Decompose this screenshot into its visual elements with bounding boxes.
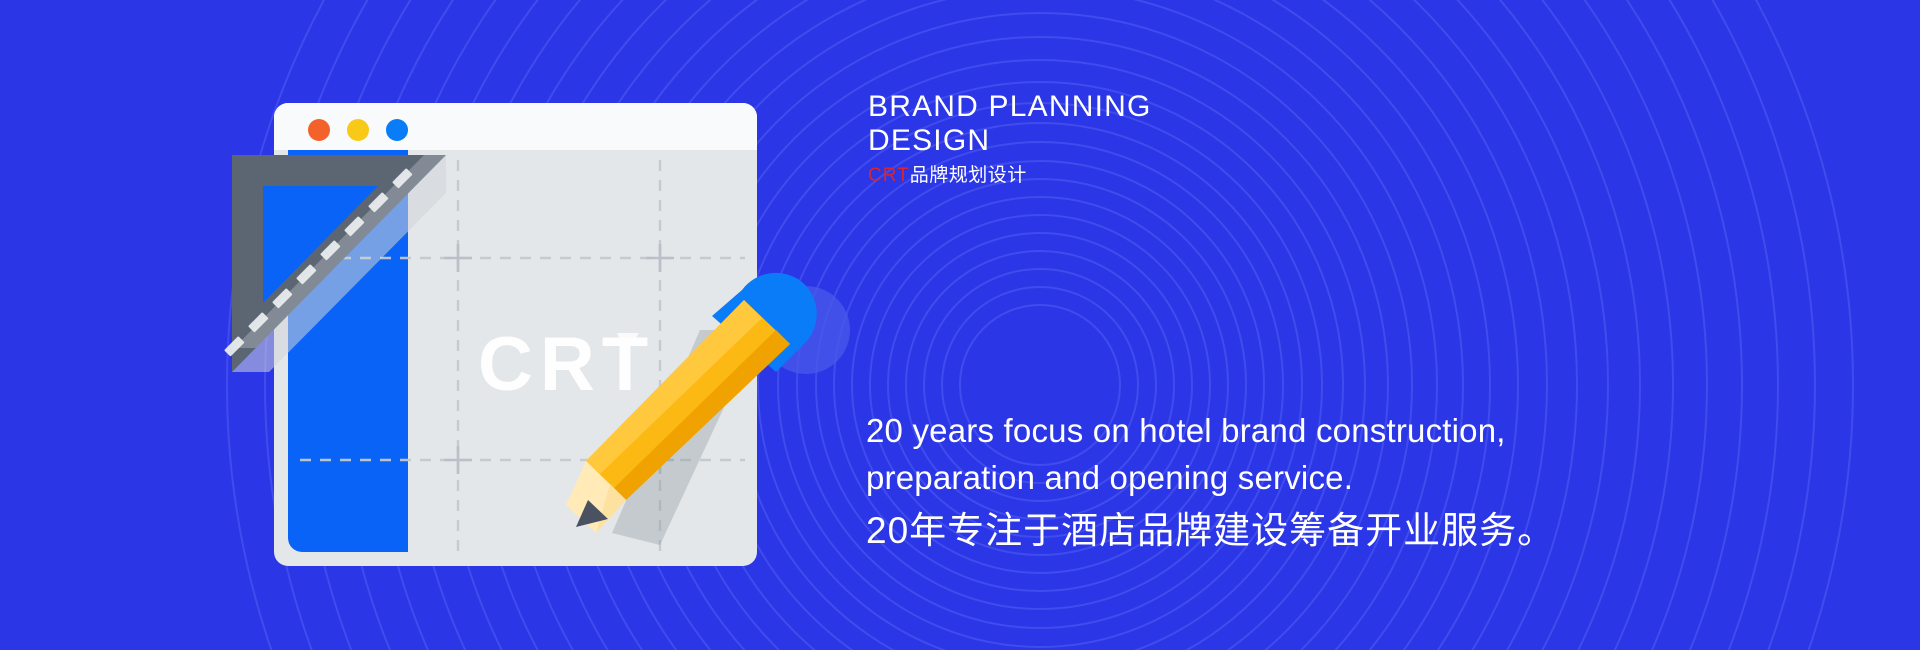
- sub-heading-cn: 品牌规划设计: [910, 165, 1027, 186]
- heading-block: BRAND PLANNING DESIGN CRT品牌规划设计: [868, 90, 1568, 188]
- tagline-en-line1: 20 years focus on hotel brand constructi…: [866, 407, 1766, 454]
- document-crt-logo: CRT: [478, 322, 655, 407]
- window-control-dots: [308, 119, 408, 141]
- tagline-en-line2: preparation and opening service.: [866, 454, 1766, 501]
- headline-line2: DESIGN: [868, 124, 1568, 158]
- tagline-cn: 20年专注于酒店品牌建设筹备开业服务。: [866, 505, 1766, 557]
- headline-line1: BRAND PLANNING: [868, 90, 1568, 124]
- brand-banner: CRT: [0, 0, 1920, 650]
- sub-heading-brand: CRT: [868, 165, 910, 186]
- sub-heading: CRT品牌规划设计: [868, 164, 1568, 188]
- tagline-block: 20 years focus on hotel brand constructi…: [866, 407, 1766, 557]
